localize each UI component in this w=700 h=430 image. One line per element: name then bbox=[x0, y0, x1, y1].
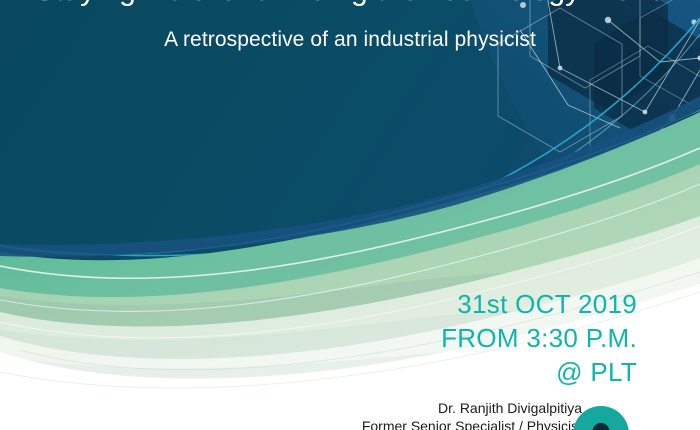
person-icon-head bbox=[593, 423, 610, 430]
poster-subtitle: A retrospective of an industrial physici… bbox=[0, 28, 700, 52]
poster-title: Staying Relevant: Riding the Technology … bbox=[0, 0, 700, 8]
speaker-details: Dr. Ranjith Divigalpitiya Former Senior … bbox=[162, 400, 582, 430]
event-details: 31st OCT 2019 FROM 3:30 P.M. @ PLT bbox=[217, 288, 637, 389]
event-date: 31st OCT 2019 bbox=[217, 288, 637, 322]
speaker-role: Former Senior Specialist / Physicist bbox=[162, 418, 582, 430]
speaker-name: Dr. Ranjith Divigalpitiya bbox=[162, 400, 582, 418]
event-time: FROM 3:30 P.M. bbox=[217, 322, 637, 356]
event-venue: @ PLT bbox=[217, 356, 637, 390]
event-poster: Staying Relevant: Riding the Technology … bbox=[0, 0, 700, 430]
